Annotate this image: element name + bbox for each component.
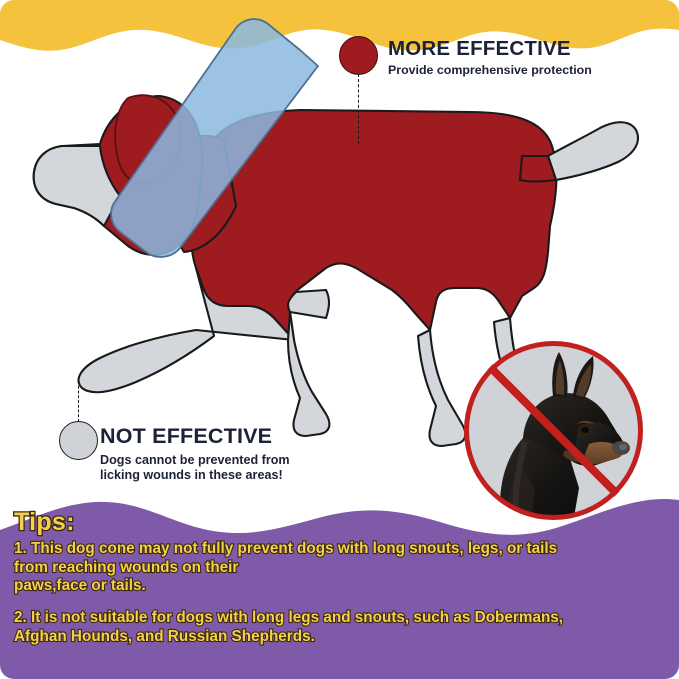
callout-more-effective: MORE EFFECTIVE Provide comprehensive pro… [388,38,658,78]
callout-not-effective: NOT EFFECTIVE Dogs cannot be prevented f… [100,425,360,484]
tips-content: Tips: 1. This dog cone may not fully pre… [0,484,679,679]
product-infographic: MORE EFFECTIVE Provide comprehensive pro… [0,0,679,679]
tips-heading: Tips: [14,510,665,535]
not-effective-subtitle: Dogs cannot be prevented from licking wo… [100,453,360,484]
more-effective-subtitle: Provide comprehensive protection [388,63,658,78]
more-effective-title: MORE EFFECTIVE [388,38,658,60]
more-effective-leader-line [358,74,359,144]
more-effective-marker-icon [339,36,378,75]
tips-item-1: 1. This dog cone may not fully prevent d… [14,540,665,596]
tips-spacer [14,596,665,609]
not-effective-title: NOT EFFECTIVE [100,425,360,448]
not-effective-marker-icon [59,421,98,460]
tips-panel: Tips: 1. This dog cone may not fully pre… [0,484,679,679]
not-effective-leader-line [78,381,79,422]
tips-item-2: 2. It is not suitable for dogs with long… [14,609,665,646]
